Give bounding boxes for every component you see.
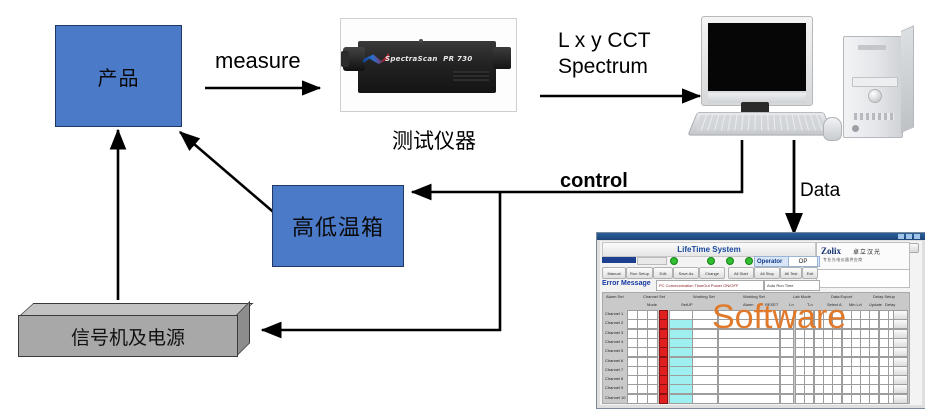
toolbar-button-all-test[interactable]: All Test xyxy=(780,267,802,279)
arrow-chamber-to-product xyxy=(180,132,285,222)
monitor-screen xyxy=(708,23,806,91)
zolix-logo-cn: 卓立汉光 xyxy=(853,247,881,256)
channel-mode-field[interactable] xyxy=(669,394,693,404)
sub-head-1: SetUP xyxy=(681,302,693,307)
instrument-lens-cap-icon xyxy=(341,51,349,67)
software-status-row: Operator OP xyxy=(602,256,814,265)
instrument-indicator-dot xyxy=(419,39,423,43)
sub-head-7: Min Lvl xyxy=(849,302,862,307)
instrument-caption: 测试仪器 xyxy=(392,125,476,155)
sub-head-0: Mode xyxy=(647,302,657,307)
channel-small-field[interactable] xyxy=(647,394,658,404)
instrument-rear-connector xyxy=(493,47,511,69)
toolbar-button-change[interactable]: Change xyxy=(699,267,725,279)
power-box-label: 信号机及电源 xyxy=(71,323,185,350)
toolbar-button-save-as[interactable]: Save As xyxy=(673,267,699,279)
instrument-vents xyxy=(453,71,489,83)
status-led-4 xyxy=(745,257,753,265)
channel-row-label: Channel 3 xyxy=(605,330,623,335)
toolbar-button-manual[interactable]: Manual xyxy=(602,267,626,279)
product-box[interactable]: 产品 xyxy=(55,25,182,127)
software-titlebar xyxy=(597,233,925,240)
tower-front-ports xyxy=(854,113,894,120)
tower-side-panel xyxy=(901,25,914,133)
power-button-icon xyxy=(852,125,859,132)
software-watermark: Software xyxy=(712,298,846,337)
computer-photo xyxy=(695,14,920,139)
channel-row[interactable]: Channel 10 xyxy=(605,394,907,403)
test-instrument-photo: SpectraScan PR 730 xyxy=(340,18,517,112)
toolbar-button-all-stop[interactable]: All Stop xyxy=(754,267,780,279)
status-led-3 xyxy=(726,257,734,265)
zolix-logo-sub: 专业光电仪器供应商 xyxy=(823,257,863,263)
progress-bar xyxy=(602,257,636,263)
pc-tower xyxy=(843,36,903,138)
channel-action-button[interactable] xyxy=(893,394,908,404)
optical-drive-slot xyxy=(852,77,898,87)
software-window-title: LifeTime System xyxy=(602,242,816,257)
monitor-frame xyxy=(701,16,813,106)
chamber-label: 高低温箱 xyxy=(292,210,384,242)
col-head-0: Alarm Set xyxy=(606,294,624,299)
zolix-logo-name: Zolix xyxy=(821,246,841,256)
software-toolbar: Manual Run Setup Edit Save As Change All… xyxy=(602,267,814,278)
channel-row[interactable]: Channel 8 xyxy=(605,375,907,384)
instrument-brand-text: SpectraScan PR 730 xyxy=(385,55,473,63)
instrument-body xyxy=(358,41,496,93)
channel-setup-field[interactable] xyxy=(718,394,780,404)
keyboard-icon xyxy=(687,112,834,136)
channel-row-label: Channel 9 xyxy=(605,385,623,390)
channel-row-label: Channel 2 xyxy=(605,320,623,325)
software-error-bar: Error Message PC Communication TimeOut P… xyxy=(602,280,814,290)
channel-mode-select[interactable] xyxy=(692,394,718,404)
col-head-6: Delay Setup xyxy=(873,294,895,299)
toolbar-button-edit[interactable]: Edit xyxy=(653,267,673,279)
progress-bar-secondary xyxy=(637,257,667,265)
channel-row[interactable]: Channel 9 xyxy=(605,384,907,393)
channel-row-label: Channel 7 xyxy=(605,367,623,372)
control-label: control xyxy=(560,170,628,193)
toolbar-button-run-setup[interactable]: Run Setup xyxy=(626,267,653,279)
diagram-canvas: 产品 measure SpectraScan PR 730 测试仪器 L x y… xyxy=(0,0,925,419)
sub-head-8: Update xyxy=(869,302,882,307)
error-message-value: PC Communication TimeOut Power ON/OFF xyxy=(656,280,764,291)
temperature-chamber-box[interactable]: 高低温箱 xyxy=(272,185,404,267)
status-led-1 xyxy=(670,257,678,265)
zolix-logo: Zolix 卓立汉光 专业光电仪器供应商 xyxy=(816,242,910,270)
toolbar-button-all-start[interactable]: All Start xyxy=(728,267,754,279)
channel-row-label: Channel 4 xyxy=(605,339,623,344)
signal-power-box[interactable]: 信号机及电源 xyxy=(18,303,253,355)
channel-row[interactable]: Channel 4 xyxy=(605,338,907,347)
sub-head-9: Delay xyxy=(885,302,895,307)
mouse-icon xyxy=(823,117,842,141)
toolbar-button-exit[interactable]: Exit xyxy=(802,267,818,279)
alarm-indicator[interactable] xyxy=(659,394,668,404)
error-select[interactable]: Auto Run Time xyxy=(764,280,820,291)
tower-dial xyxy=(868,89,882,103)
channel-row-label: Channel 8 xyxy=(605,376,623,381)
logo-blank-panel xyxy=(816,269,910,288)
error-message-label: Error Message xyxy=(602,280,651,287)
channel-row-label: Channel 1 xyxy=(605,311,623,316)
channel-row[interactable]: Channel 6 xyxy=(605,357,907,366)
channel-value-field[interactable] xyxy=(780,394,794,404)
tower-badge xyxy=(858,45,886,50)
channel-row-label: Channel 10 xyxy=(605,395,625,400)
measure-label: measure xyxy=(215,48,301,74)
channel-row-label: Channel 5 xyxy=(605,348,623,353)
channel-row[interactable]: Channel 5 xyxy=(605,347,907,356)
product-label: 产品 xyxy=(98,62,140,91)
status-led-2 xyxy=(707,257,715,265)
channel-row-label: Channel 6 xyxy=(605,358,623,363)
col-head-1: Channel Set xyxy=(643,294,665,299)
data-label: Data xyxy=(800,180,840,202)
spectrum-output-label: L x y CCT Spectrum xyxy=(558,28,651,80)
operator-value[interactable]: OP xyxy=(788,256,818,267)
channel-row[interactable]: Channel 7 xyxy=(605,366,907,375)
power-box-front-face: 信号机及电源 xyxy=(18,315,238,357)
